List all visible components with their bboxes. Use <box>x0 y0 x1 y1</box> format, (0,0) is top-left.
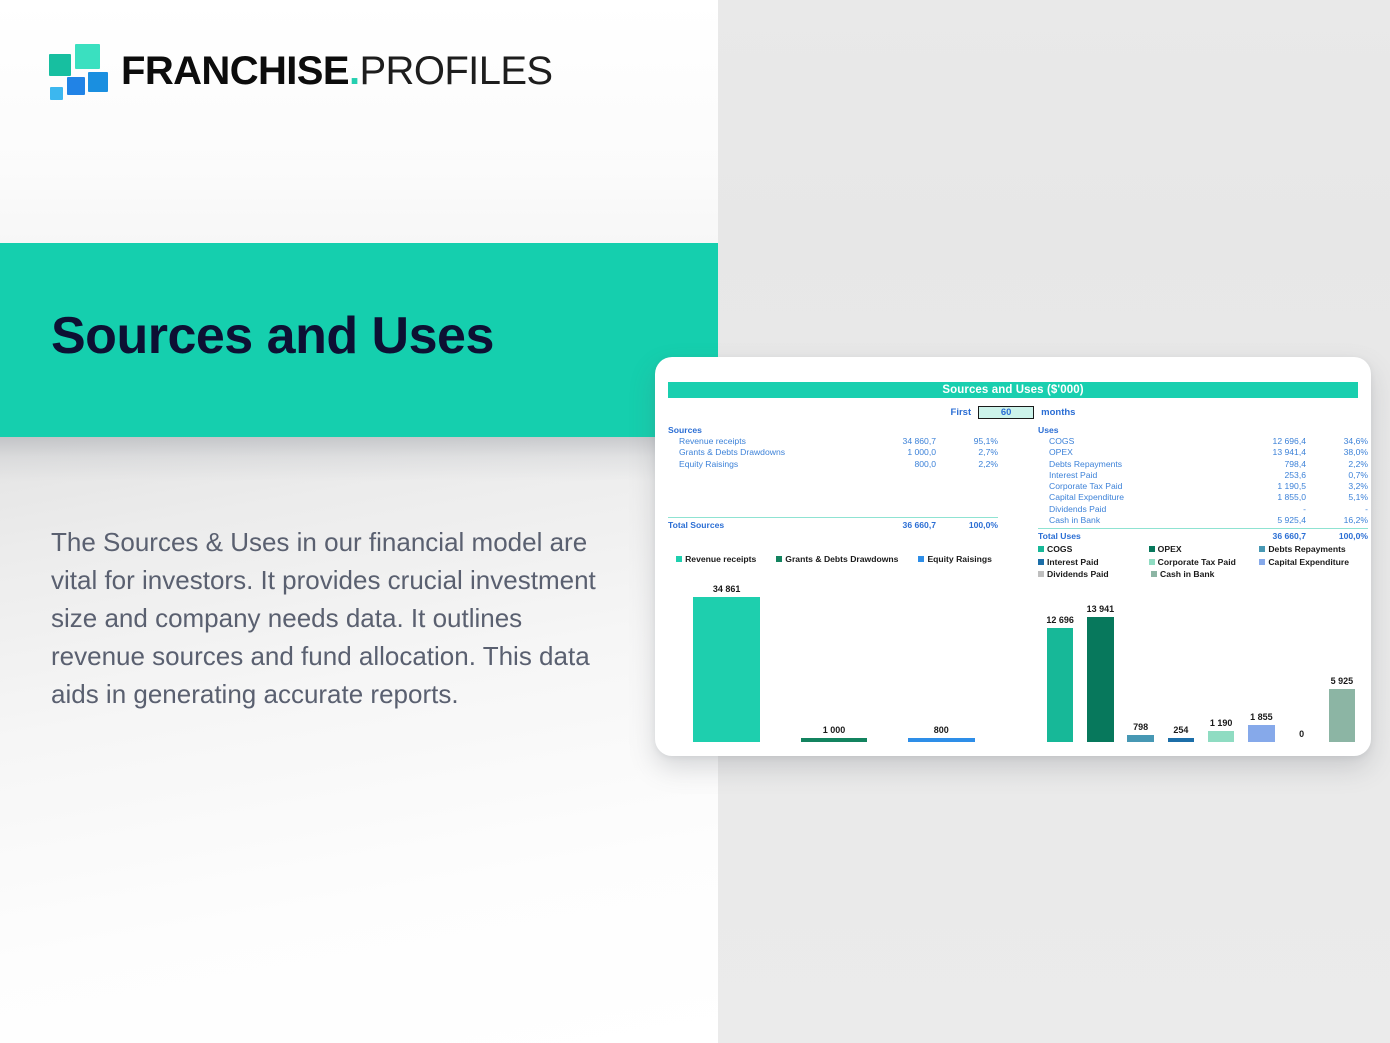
legend-label: Revenue receipts <box>685 554 756 564</box>
body-paragraph: The Sources & Uses in our financial mode… <box>51 523 623 713</box>
table-row: COGS 12 696,4 34,6% <box>1038 436 1368 447</box>
bar <box>693 597 760 742</box>
row-amount: 1 855,0 <box>1214 492 1306 503</box>
bar-group: 0 <box>1282 602 1322 742</box>
table-row: Revenue receipts 34 860,7 95,1% <box>668 436 998 447</box>
row-percent: 16,2% <box>1306 515 1368 526</box>
bar-group: 798 <box>1121 602 1161 742</box>
sources-table: Sources Revenue receipts 34 860,7 95,1% … <box>668 424 998 531</box>
row-percent: 2,2% <box>1306 459 1368 470</box>
bar-value-label: 1 190 <box>1210 718 1233 728</box>
bar <box>1127 735 1154 742</box>
total-percent: 100,0% <box>936 518 998 531</box>
bar-group: 5 925 <box>1322 602 1362 742</box>
sources-chart-legend: Revenue receipts Grants & Debts Drawdown… <box>668 553 1000 566</box>
slide-root: FRANCHISE.PROFILES Sources and Uses The … <box>0 0 1390 1043</box>
bar <box>1248 725 1275 742</box>
row-label: Capital Expenditure <box>1038 492 1214 503</box>
legend-label: COGS <box>1047 544 1072 554</box>
legend-item[interactable]: OPEX <box>1149 544 1260 554</box>
row-amount: 12 696,4 <box>1214 436 1306 447</box>
legend-swatch-icon <box>1038 546 1044 552</box>
row-percent: 2,7% <box>936 447 998 458</box>
legend-item[interactable]: Grants & Debts Drawdowns <box>776 554 898 564</box>
table-row: Debts Repayments 798,4 2,2% <box>1038 459 1368 470</box>
row-amount: 1 190,5 <box>1214 481 1306 492</box>
bar <box>1208 731 1235 742</box>
total-percent: 100,0% <box>1306 529 1368 542</box>
bar-value-label: 13 941 <box>1087 604 1115 614</box>
sheet-title-banner: Sources and Uses ($'000) <box>668 382 1358 398</box>
row-label: Debts Repayments <box>1038 459 1214 470</box>
bar-value-label: 34 861 <box>713 584 741 594</box>
logo-square-5 <box>50 87 63 100</box>
row-percent: 5,1% <box>1306 492 1368 503</box>
legend-item[interactable]: Dividends Paid <box>1038 569 1151 579</box>
bar-value-label: 1 000 <box>823 725 846 735</box>
bar-value-label: 254 <box>1173 725 1188 735</box>
row-percent: 2,2% <box>936 459 998 470</box>
row-amount: 798,4 <box>1214 459 1306 470</box>
bar <box>1047 628 1074 742</box>
table-row: Equity Raisings 800,0 2,2% <box>668 459 998 470</box>
legend-swatch-icon <box>1149 559 1155 565</box>
uses-chart-legend: COGS OPEX Debts Repayments Interest Paid <box>1038 543 1370 581</box>
legend-row: COGS OPEX Debts Repayments <box>1038 543 1370 556</box>
legend-item[interactable]: Capital Expenditure <box>1259 557 1370 567</box>
bar <box>1329 689 1356 742</box>
uses-header: Uses <box>1038 424 1368 436</box>
uses-rows: COGS 12 696,4 34,6% OPEX 13 941,4 38,0% … <box>1038 436 1368 526</box>
bar-value-label: 800 <box>934 725 949 735</box>
legend-item[interactable]: Interest Paid <box>1038 557 1149 567</box>
row-amount: 1 000,0 <box>844 447 936 458</box>
table-row: Interest Paid 253,6 0,7% <box>1038 470 1368 481</box>
legend-item[interactable]: Corporate Tax Paid <box>1149 557 1260 567</box>
legend-swatch-icon <box>1038 559 1044 565</box>
legend-row: Dividends Paid Cash in Bank <box>1038 568 1370 581</box>
total-label: Total Sources <box>668 518 844 531</box>
legend-swatch-icon <box>1151 571 1157 577</box>
legend-row: Revenue receipts Grants & Debts Drawdown… <box>668 553 1000 566</box>
legend-row: Interest Paid Corporate Tax Paid Capital… <box>1038 556 1370 569</box>
logo-square-3 <box>88 72 108 92</box>
row-amount: 5 925,4 <box>1214 515 1306 526</box>
bar <box>801 738 868 742</box>
sources-bar-chart: 34 8611 000800 <box>673 582 995 742</box>
table-row: OPEX 13 941,4 38,0% <box>1038 447 1368 458</box>
bar-value-label: 1 855 <box>1250 712 1273 722</box>
logo-square-2 <box>49 54 71 76</box>
brand-name-bold: FRANCHISE <box>121 49 349 93</box>
legend-item[interactable]: Equity Raisings <box>918 554 991 564</box>
row-percent: - <box>1306 504 1368 515</box>
bar-value-label: 5 925 <box>1331 676 1354 686</box>
row-label: Interest Paid <box>1038 470 1214 481</box>
legend-label: Interest Paid <box>1047 557 1099 567</box>
legend-label: Corporate Tax Paid <box>1158 557 1236 567</box>
table-row: Dividends Paid - - <box>1038 504 1368 515</box>
row-percent: 95,1% <box>936 436 998 447</box>
legend-item[interactable]: Debts Repayments <box>1259 544 1370 554</box>
uses-bar-chart: 12 69613 9417982541 1901 85505 925 <box>1040 602 1362 742</box>
row-label: Revenue receipts <box>668 436 844 447</box>
sources-total-row: Total Sources 36 660,7 100,0% <box>668 517 998 531</box>
period-suffix-label: months <box>1041 407 1075 418</box>
period-months-input[interactable]: 60 <box>978 406 1034 419</box>
uses-total-row: Total Uses 36 660,7 100,0% <box>1038 528 1368 542</box>
page-title: Sources and Uses <box>51 309 494 364</box>
sources-bars: 34 8611 000800 <box>673 582 995 742</box>
legend-swatch-icon <box>1259 559 1265 565</box>
table-row: Corporate Tax Paid 1 190,5 3,2% <box>1038 481 1368 492</box>
row-label: Dividends Paid <box>1038 504 1214 515</box>
bar <box>1087 617 1114 742</box>
table-row: Cash in Bank 5 925,4 16,2% <box>1038 515 1368 526</box>
row-label: Corporate Tax Paid <box>1038 481 1214 492</box>
legend-label: Grants & Debts Drawdowns <box>785 554 898 564</box>
bar <box>908 738 975 742</box>
sources-header: Sources <box>668 424 998 436</box>
total-amount: 36 660,7 <box>844 518 936 531</box>
bar <box>1168 738 1195 742</box>
brand-name-light: PROFILES <box>359 49 552 93</box>
uses-table: Uses COGS 12 696,4 34,6% OPEX 13 941,4 3… <box>1038 424 1368 542</box>
legend-label: Dividends Paid <box>1047 569 1109 579</box>
bar-value-label: 12 696 <box>1046 615 1074 625</box>
sources-rows: Revenue receipts 34 860,7 95,1% Grants &… <box>668 436 998 470</box>
row-amount: 13 941,4 <box>1214 447 1306 458</box>
table-row: Grants & Debts Drawdowns 1 000,0 2,7% <box>668 447 998 458</box>
legend-label: Debts Repayments <box>1268 544 1345 554</box>
bar-group: 800 <box>888 582 995 742</box>
row-amount: 800,0 <box>844 459 936 470</box>
logo-square-1 <box>75 44 100 69</box>
brand-wordmark: FRANCHISE.PROFILES <box>121 46 553 96</box>
bar-value-label: 798 <box>1133 722 1148 732</box>
brand-logo: FRANCHISE.PROFILES <box>48 44 548 106</box>
bar-value-label: 0 <box>1299 729 1304 739</box>
legend-label: OPEX <box>1158 544 1182 554</box>
total-amount: 36 660,7 <box>1214 529 1306 542</box>
legend-swatch-icon <box>1149 546 1155 552</box>
bar-group: 1 190 <box>1201 602 1241 742</box>
bar-group: 34 861 <box>673 582 780 742</box>
period-selector-row: First 60 months <box>668 404 1358 420</box>
row-percent: 38,0% <box>1306 447 1368 458</box>
legend-label: Cash in Bank <box>1160 569 1214 579</box>
period-prefix-label: First <box>951 407 972 418</box>
row-label: COGS <box>1038 436 1214 447</box>
logo-squares-icon <box>48 44 112 100</box>
legend-swatch-icon <box>1259 546 1265 552</box>
legend-swatch-icon <box>918 556 924 562</box>
row-label: OPEX <box>1038 447 1214 458</box>
hero-band-shadow <box>0 437 718 481</box>
row-percent: 3,2% <box>1306 481 1368 492</box>
table-row: Capital Expenditure 1 855,0 5,1% <box>1038 492 1368 503</box>
legend-item[interactable]: COGS <box>1038 544 1149 554</box>
legend-swatch-icon <box>1038 571 1044 577</box>
total-label: Total Uses <box>1038 529 1214 542</box>
row-percent: 34,6% <box>1306 436 1368 447</box>
row-label: Equity Raisings <box>668 459 844 470</box>
legend-label: Equity Raisings <box>927 554 991 564</box>
sources-table-spacer <box>668 470 998 516</box>
row-amount: 34 860,7 <box>844 436 936 447</box>
logo-square-4 <box>67 77 85 95</box>
bar-group: 12 696 <box>1040 602 1080 742</box>
brand-name-dot: . <box>349 49 360 93</box>
bar-group: 1 000 <box>780 582 887 742</box>
legend-swatch-icon <box>776 556 782 562</box>
bar-group: 13 941 <box>1080 602 1120 742</box>
legend-item[interactable]: Cash in Bank <box>1151 569 1264 579</box>
row-amount: 253,6 <box>1214 470 1306 481</box>
row-amount: - <box>1214 504 1306 515</box>
uses-bars: 12 69613 9417982541 1901 85505 925 <box>1040 602 1362 742</box>
bar-group: 1 855 <box>1241 602 1281 742</box>
row-percent: 0,7% <box>1306 470 1368 481</box>
legend-swatch-icon <box>676 556 682 562</box>
legend-item[interactable]: Revenue receipts <box>676 554 756 564</box>
legend-label: Capital Expenditure <box>1268 557 1349 567</box>
row-label: Cash in Bank <box>1038 515 1214 526</box>
spreadsheet-card: Sources and Uses ($'000) First 60 months… <box>655 357 1371 756</box>
bar-group: 254 <box>1161 602 1201 742</box>
row-label: Grants & Debts Drawdowns <box>668 447 844 458</box>
background-top-left <box>0 0 718 243</box>
